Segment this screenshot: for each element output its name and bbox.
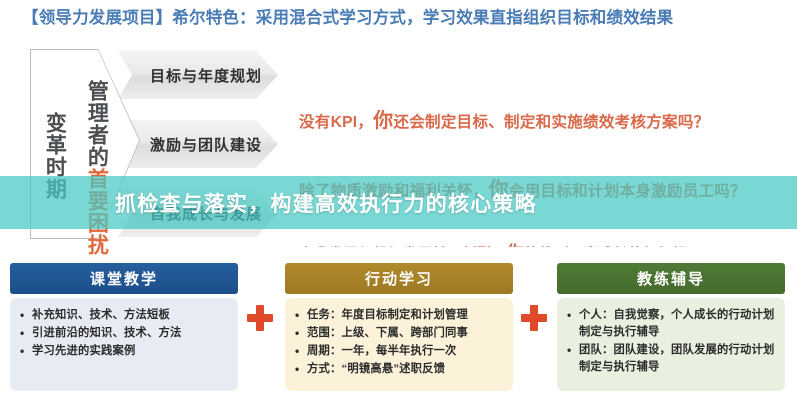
list-item: 团队：团队建设，团队发展的行动计划制定与执行辅导	[579, 342, 779, 376]
panel-classroom-teaching: 课堂教学 补充知识、技术、方法短板 引进前沿的知识、技术、方法 学习先进的实践案…	[10, 263, 238, 391]
bottom-panels: 课堂教学 补充知识、技术、方法短板 引进前沿的知识、技术、方法 学习先进的实践案…	[0, 247, 797, 400]
question-row-1-emphasis: 你	[373, 110, 393, 132]
vertical-label-manager: 管理者的首要困扰	[86, 80, 107, 256]
overlay-banner-text: 抓检查与落实，构建高效执行力的核心策略	[115, 176, 537, 229]
panel-action-learning-title: 行动学习	[285, 263, 513, 294]
list-item: 范围：上级、下属、跨部门同事	[307, 325, 507, 342]
plus-icon-1	[247, 305, 273, 331]
question-row-1: 没有KPI，你还会制定目标、制定和实施绩效考核方案吗？	[299, 104, 709, 133]
vertical-label-manager-prefix: 管理者的	[85, 80, 108, 168]
panel-classroom-teaching-list: 补充知识、技术、方法短板 引进前沿的知识、技术、方法 学习先进的实践案例	[18, 307, 232, 360]
list-item: 学习先进的实践案例	[32, 343, 232, 360]
panel-action-learning-body: 任务：年度目标制定和计划管理 范围：上级、下属、跨部门同事 周期：一年，每半年执…	[285, 298, 513, 391]
list-item: 任务：年度目标制定和计划管理	[307, 307, 507, 324]
list-item: 方式：“明镜高悬”述职反馈	[307, 361, 507, 378]
plus-icon-1-vertical	[256, 305, 264, 331]
plus-icon-2-vertical	[530, 305, 538, 331]
page-title: 【领导力发展项目】希尔特色：采用混合式学习方式，学习效果直指组织目标和绩效结果	[0, 0, 797, 32]
panel-action-learning-list: 任务：年度目标制定和计划管理 范围：上级、下属、跨部门同事 周期：一年，每半年执…	[293, 307, 507, 379]
overlay-banner: 抓检查与落实，构建高效执行力的核心策略	[0, 176, 797, 229]
panel-coaching-list: 个人：自我觉察，个人成长的行动计划制定与执行辅导 团队：团队建设，团队发展的行动…	[565, 307, 779, 377]
panel-coaching-body: 个人：自我觉察，个人成长的行动计划制定与执行辅导 团队：团队建设，团队发展的行动…	[557, 298, 785, 391]
panel-classroom-teaching-body: 补充知识、技术、方法短板 引进前沿的知识、技术、方法 学习先进的实践案例	[10, 298, 238, 391]
panel-coaching: 教练辅导 个人：自我觉察，个人成长的行动计划制定与执行辅导 团队：团队建设，团队…	[557, 263, 785, 391]
plus-icon-2	[521, 305, 547, 331]
chevron-row-2: 激励与团队建设	[118, 120, 278, 168]
list-item: 补充知识、技术、方法短板	[32, 307, 232, 324]
chevron-row-1: 目标与年度规划	[118, 51, 278, 99]
question-row-1-rest: 还会制定目标、制定和实施绩效考核方案吗？	[393, 114, 709, 131]
panel-coaching-title: 教练辅导	[557, 263, 785, 294]
panel-action-learning: 行动学习 任务：年度目标制定和计划管理 范围：上级、下属、跨部门同事 周期：一年…	[285, 263, 513, 391]
question-row-1-prefix: 没有KPI，	[299, 114, 373, 131]
panel-classroom-teaching-title: 课堂教学	[10, 263, 238, 294]
list-item: 个人：自我觉察，个人成长的行动计划制定与执行辅导	[579, 307, 779, 341]
slide-canvas: 【领导力发展项目】希尔特色：采用混合式学习方式，学习效果直指组织目标和绩效结果 …	[0, 0, 797, 400]
list-item: 周期：一年，每半年执行一次	[307, 343, 507, 360]
list-item: 引进前沿的知识、技术、方法	[32, 325, 232, 342]
